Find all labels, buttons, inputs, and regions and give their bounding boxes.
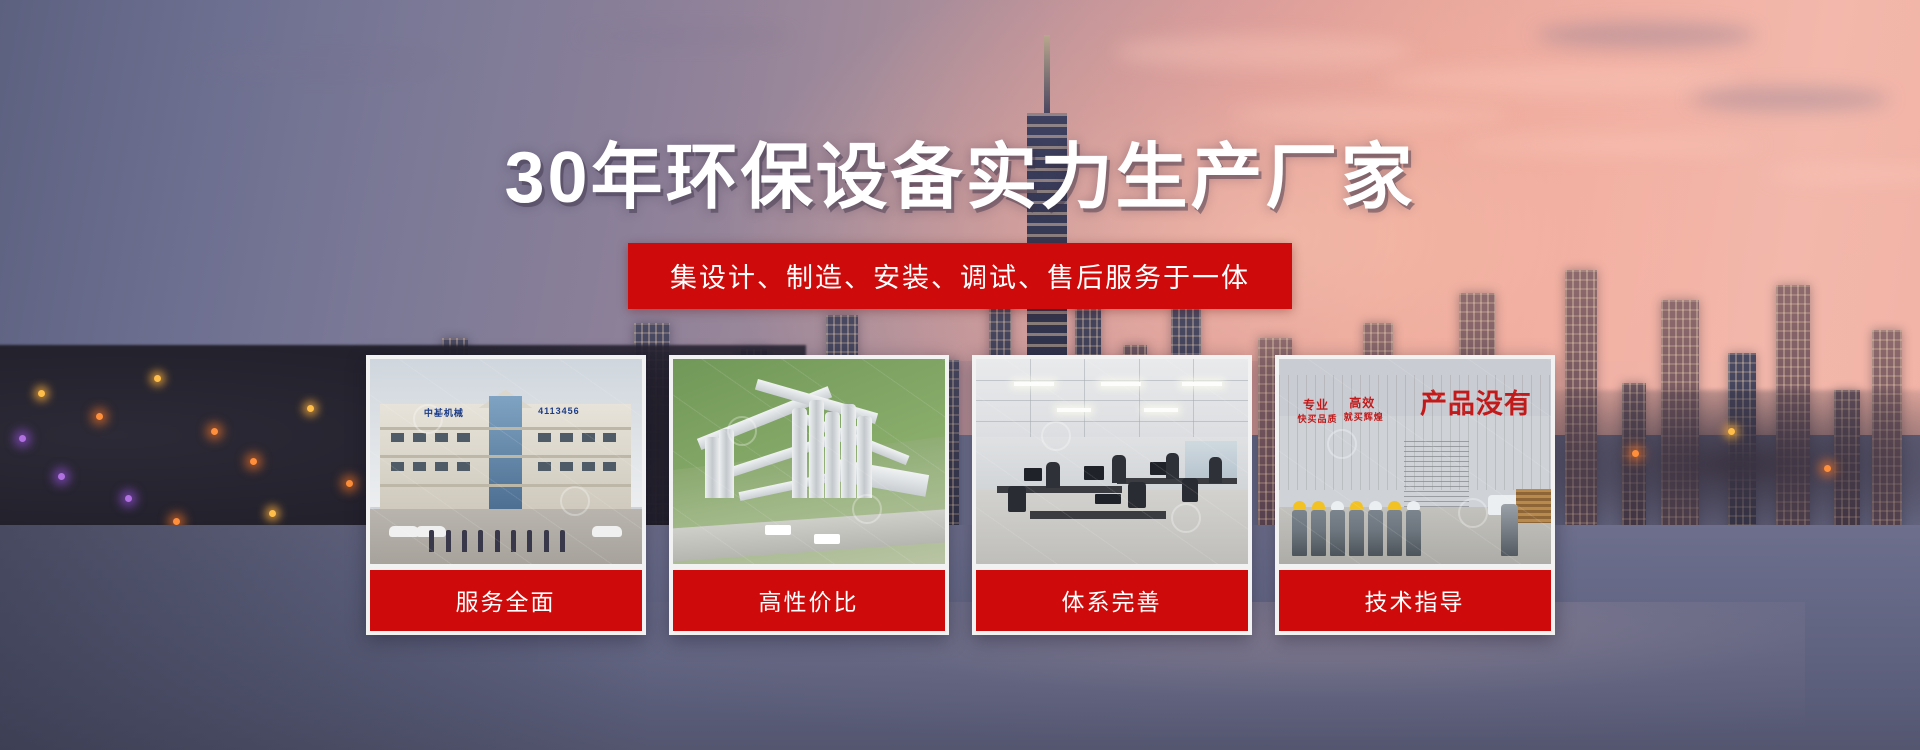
feature-card[interactable]: 体系完善 [972,355,1252,635]
feature-card-caption: 服务全面 [366,567,646,635]
page-title: 30年环保设备实力生产厂家 [504,118,1415,223]
building-phone-text: 4113456 [538,406,580,416]
card-photo-aerial-plant [673,359,945,564]
feature-card[interactable]: 中基机械 4113456 [366,355,646,635]
feature-card-list: 中基机械 4113456 [366,355,1555,635]
factory-slogan-2b: 快买品质 [1298,412,1338,425]
card-photo-office-building: 中基机械 4113456 [370,359,642,564]
card-photo-office-interior [976,359,1248,564]
feature-card-caption: 技术指导 [1275,567,1555,635]
hero-content: 30年环保设备实力生产厂家 集设计、制造、安装、调试、售后服务于一体 [0,0,1920,750]
card-photo-factory-workers: 产品没有 高效 就买辉煌 专业 快买品质 [1279,359,1551,564]
factory-slogan-main: 产品没有 [1420,382,1532,421]
feature-card[interactable]: 产品没有 高效 就买辉煌 专业 快买品质 [1275,355,1555,635]
factory-slogan-1: 高效 [1349,394,1375,411]
factory-slogan-2: 专业 [1303,396,1329,413]
hero-banner: 30年环保设备实力生产厂家 集设计、制造、安装、调试、售后服务于一体 [0,0,1920,750]
factory-slogan-1b: 就买辉煌 [1344,410,1384,423]
feature-card-caption: 体系完善 [972,567,1252,635]
feature-card-caption: 高性价比 [669,567,949,635]
feature-card[interactable]: 高性价比 [669,355,949,635]
hero-subtitle-banner: 集设计、制造、安装、调试、售后服务于一体 [628,243,1292,309]
